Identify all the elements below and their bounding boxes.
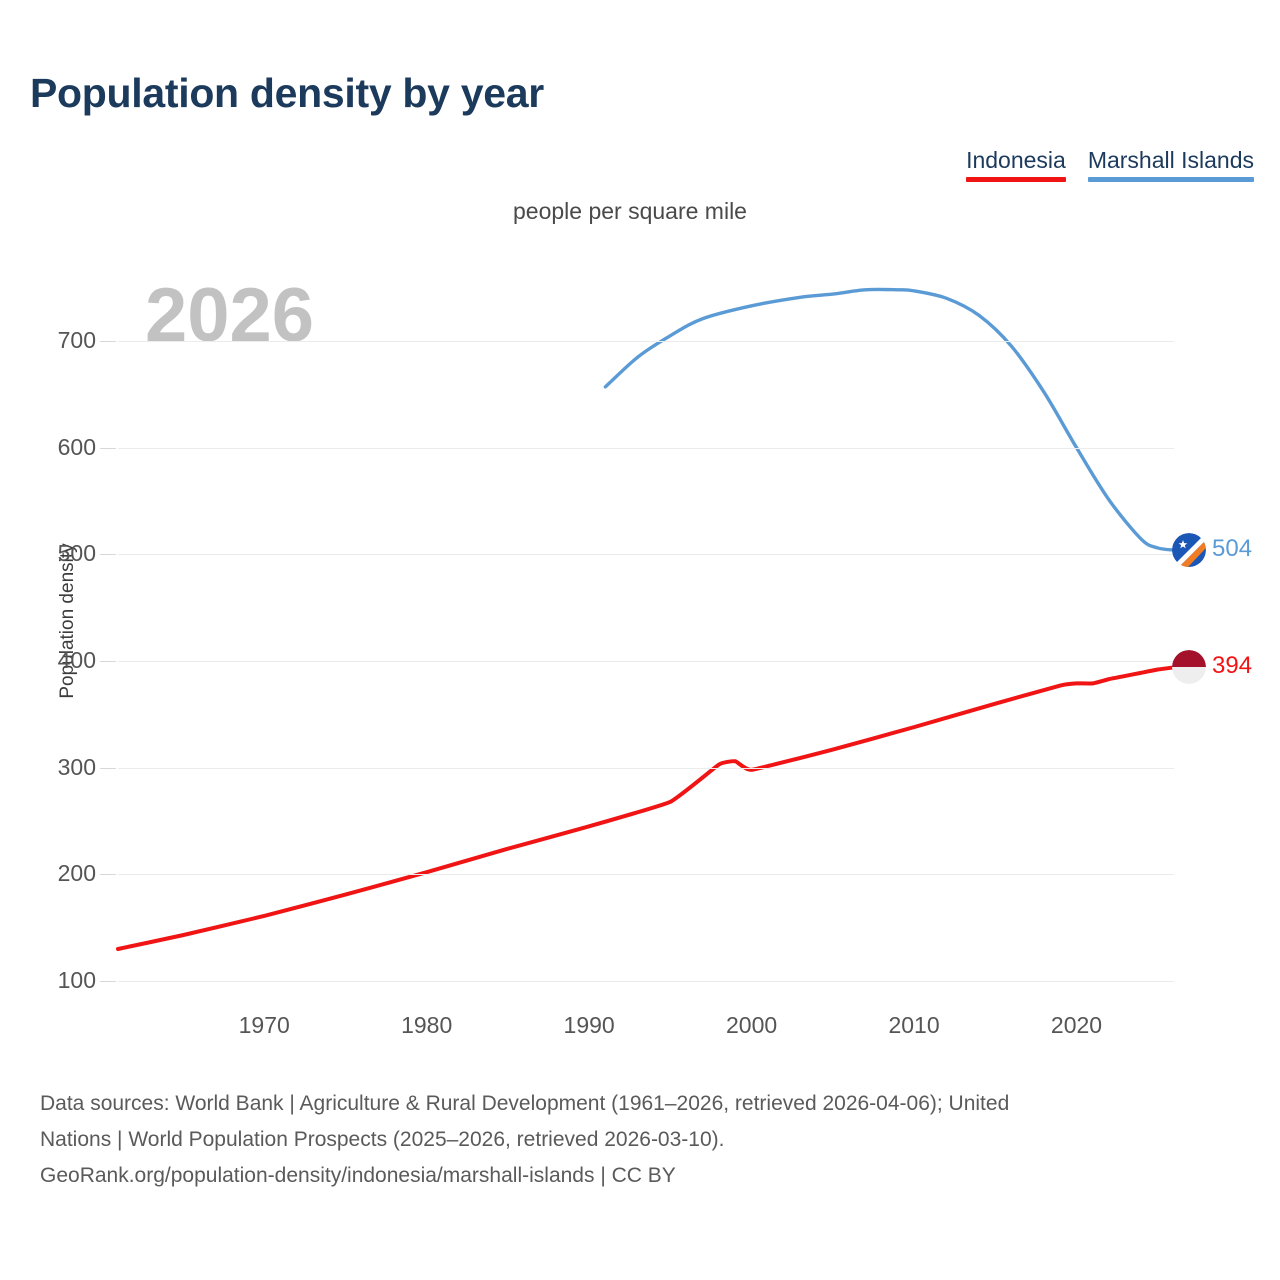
gridline <box>118 874 1174 875</box>
gridline <box>118 341 1174 342</box>
y-tick-label: 500 <box>58 540 96 567</box>
x-tick-label: 1980 <box>401 1012 452 1039</box>
gridline <box>118 981 1174 982</box>
y-tick-dash <box>100 341 116 342</box>
series-line-marshall-islands <box>605 289 1174 550</box>
chart-page: Population density by year Indonesia Mar… <box>0 0 1280 1280</box>
y-tick-dash <box>100 448 116 449</box>
gridline <box>118 554 1174 555</box>
x-tick-label: 1990 <box>564 1012 615 1039</box>
gridline <box>118 448 1174 449</box>
x-tick-label: 2010 <box>888 1012 939 1039</box>
y-tick-dash <box>100 981 116 982</box>
y-tick-dash <box>100 661 116 662</box>
end-label-marshall-islands: 504 <box>1212 535 1252 563</box>
gridline <box>118 661 1174 662</box>
series-line-indonesia <box>118 667 1174 949</box>
footer-line-1: Data sources: World Bank | Agriculture &… <box>40 1086 1260 1122</box>
marshall-islands-flag-icon <box>1172 533 1206 567</box>
y-tick-dash <box>100 874 116 875</box>
y-tick-dash <box>100 768 116 769</box>
y-tick-label: 300 <box>58 754 96 781</box>
x-tick-label: 1970 <box>239 1012 290 1039</box>
y-tick-label: 700 <box>58 327 96 354</box>
y-tick-label: 400 <box>58 647 96 674</box>
y-tick-label: 600 <box>58 434 96 461</box>
end-label-indonesia: 394 <box>1212 652 1252 680</box>
y-tick-dash <box>100 554 116 555</box>
x-tick-label: 2020 <box>1051 1012 1102 1039</box>
gridline <box>118 768 1174 769</box>
indonesia-flag-icon <box>1172 650 1206 684</box>
footer-sources: Data sources: World Bank | Agriculture &… <box>40 1086 1260 1194</box>
y-tick-label: 100 <box>58 967 96 994</box>
x-tick-label: 2000 <box>726 1012 777 1039</box>
y-tick-label: 200 <box>58 860 96 887</box>
footer-line-3: GeoRank.org/population-density/indonesia… <box>40 1158 1260 1194</box>
footer-line-2: Nations | World Population Prospects (20… <box>40 1122 1260 1158</box>
